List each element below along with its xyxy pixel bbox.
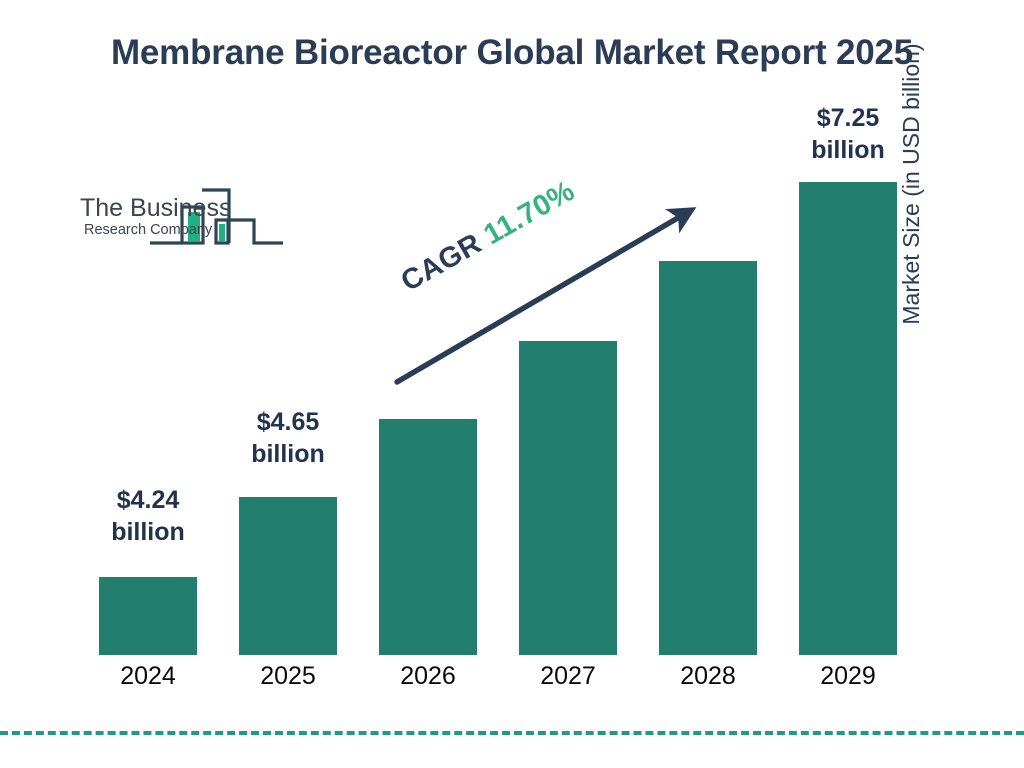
x-tick-2029: 2029 (778, 662, 918, 691)
x-tick-2026: 2026 (358, 662, 498, 691)
y-axis-title: Market Size (in USD billion) (898, 14, 934, 354)
cagr-word: CAGR (396, 227, 487, 297)
cagr-annotation: CAGR 11.70% (396, 175, 581, 299)
bar-2029[interactable] (799, 182, 897, 655)
x-tick-2024: 2024 (78, 662, 218, 691)
value-label-2029: $7.25 billion (778, 102, 918, 166)
value-label-2024: $4.24 billion (78, 484, 218, 548)
chart-canvas: Membrane Bioreactor Global Market Report… (0, 0, 1024, 768)
bar-2026[interactable] (379, 419, 477, 655)
value-label-2025: $4.65 billion (218, 406, 358, 470)
bar-2025[interactable] (239, 497, 337, 655)
cagr-value: 11.70% (479, 175, 581, 251)
bar-chart-plot-area: $4.24 billion $4.65 billion $7.25 billio… (0, 0, 1024, 768)
footer-divider (0, 731, 1024, 735)
bar-2027[interactable] (519, 341, 617, 655)
value-label-2025-amount: $4.65 (218, 406, 358, 438)
value-label-2024-unit: billion (78, 516, 218, 548)
x-tick-2025: 2025 (218, 662, 358, 691)
x-tick-2027: 2027 (498, 662, 638, 691)
value-label-2029-amount: $7.25 (778, 102, 918, 134)
value-label-2029-unit: billion (778, 134, 918, 166)
bar-2028[interactable] (659, 261, 757, 655)
value-label-2025-unit: billion (218, 438, 358, 470)
value-label-2024-amount: $4.24 (78, 484, 218, 516)
x-tick-2028: 2028 (638, 662, 778, 691)
bar-2024[interactable] (99, 577, 197, 655)
